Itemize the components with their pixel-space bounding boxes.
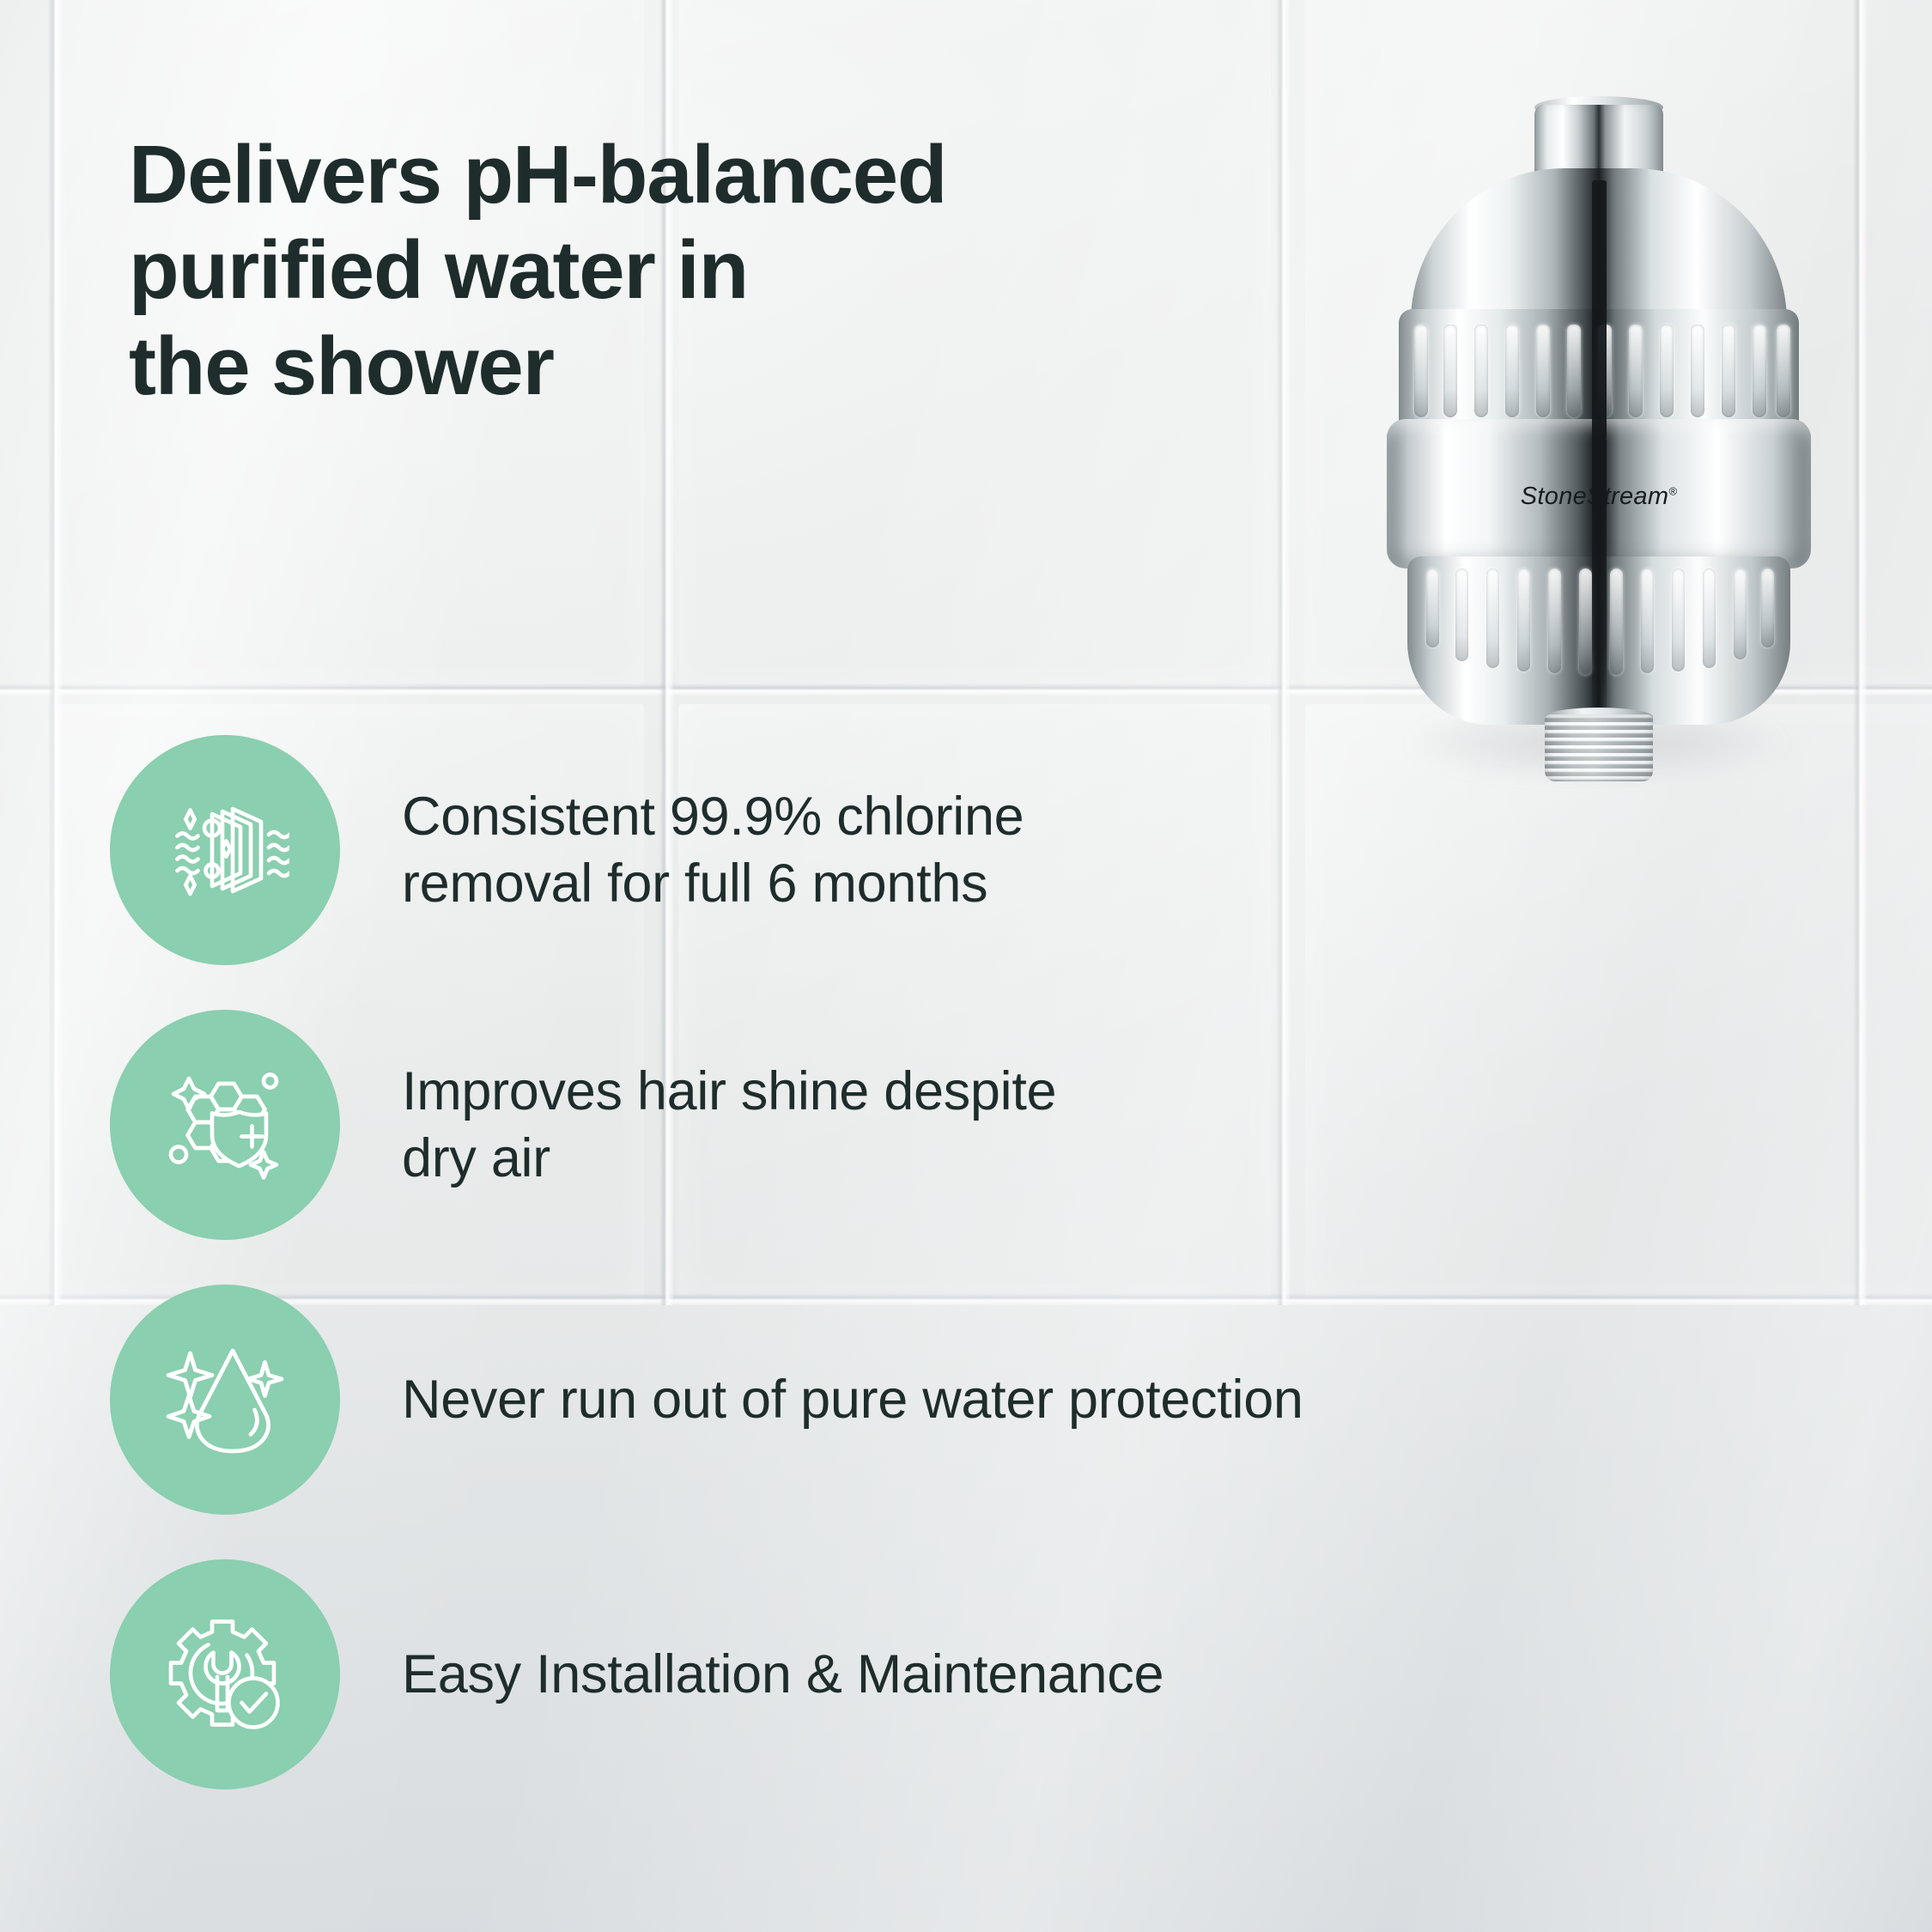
gear-wrench-check-icon: [161, 1610, 289, 1739]
feature-item: Easy Installation & Maintenance: [110, 1559, 1793, 1789]
page-title: Delivers pH-balanced purified water in t…: [129, 127, 1271, 414]
feature-icon-badge: [110, 735, 340, 965]
molecule-shield-icon: [161, 1060, 289, 1189]
feature-icon-badge: [110, 1559, 340, 1789]
product-threaded-outlet: [1545, 714, 1653, 781]
feature-icon-badge: [110, 1285, 340, 1515]
water-drop-sparkle-icon: [161, 1335, 289, 1464]
infographic-canvas: Delivers pH-balanced purified water in t…: [0, 0, 1932, 1932]
feature-label: Improves hair shine despite dry air: [402, 1058, 1056, 1192]
registered-mark: ®: [1668, 484, 1677, 497]
feature-list: Consistent 99.9% chlorine removal for fu…: [110, 735, 1793, 1834]
feature-label: Never run out of pure water protection: [402, 1366, 1303, 1433]
feature-label: Consistent 99.9% chlorine removal for fu…: [402, 783, 1024, 917]
feature-item: Improves hair shine despite dry air: [110, 1010, 1793, 1240]
product-image-shower-filter: StoneStream®: [1370, 103, 1825, 790]
feature-item: Never run out of pure water protection: [110, 1285, 1793, 1515]
filter-layers-icon: [161, 786, 289, 914]
product-reflection-strip: [1592, 180, 1607, 730]
feature-icon-badge: [110, 1010, 340, 1240]
feature-label: Easy Installation & Maintenance: [402, 1641, 1163, 1708]
